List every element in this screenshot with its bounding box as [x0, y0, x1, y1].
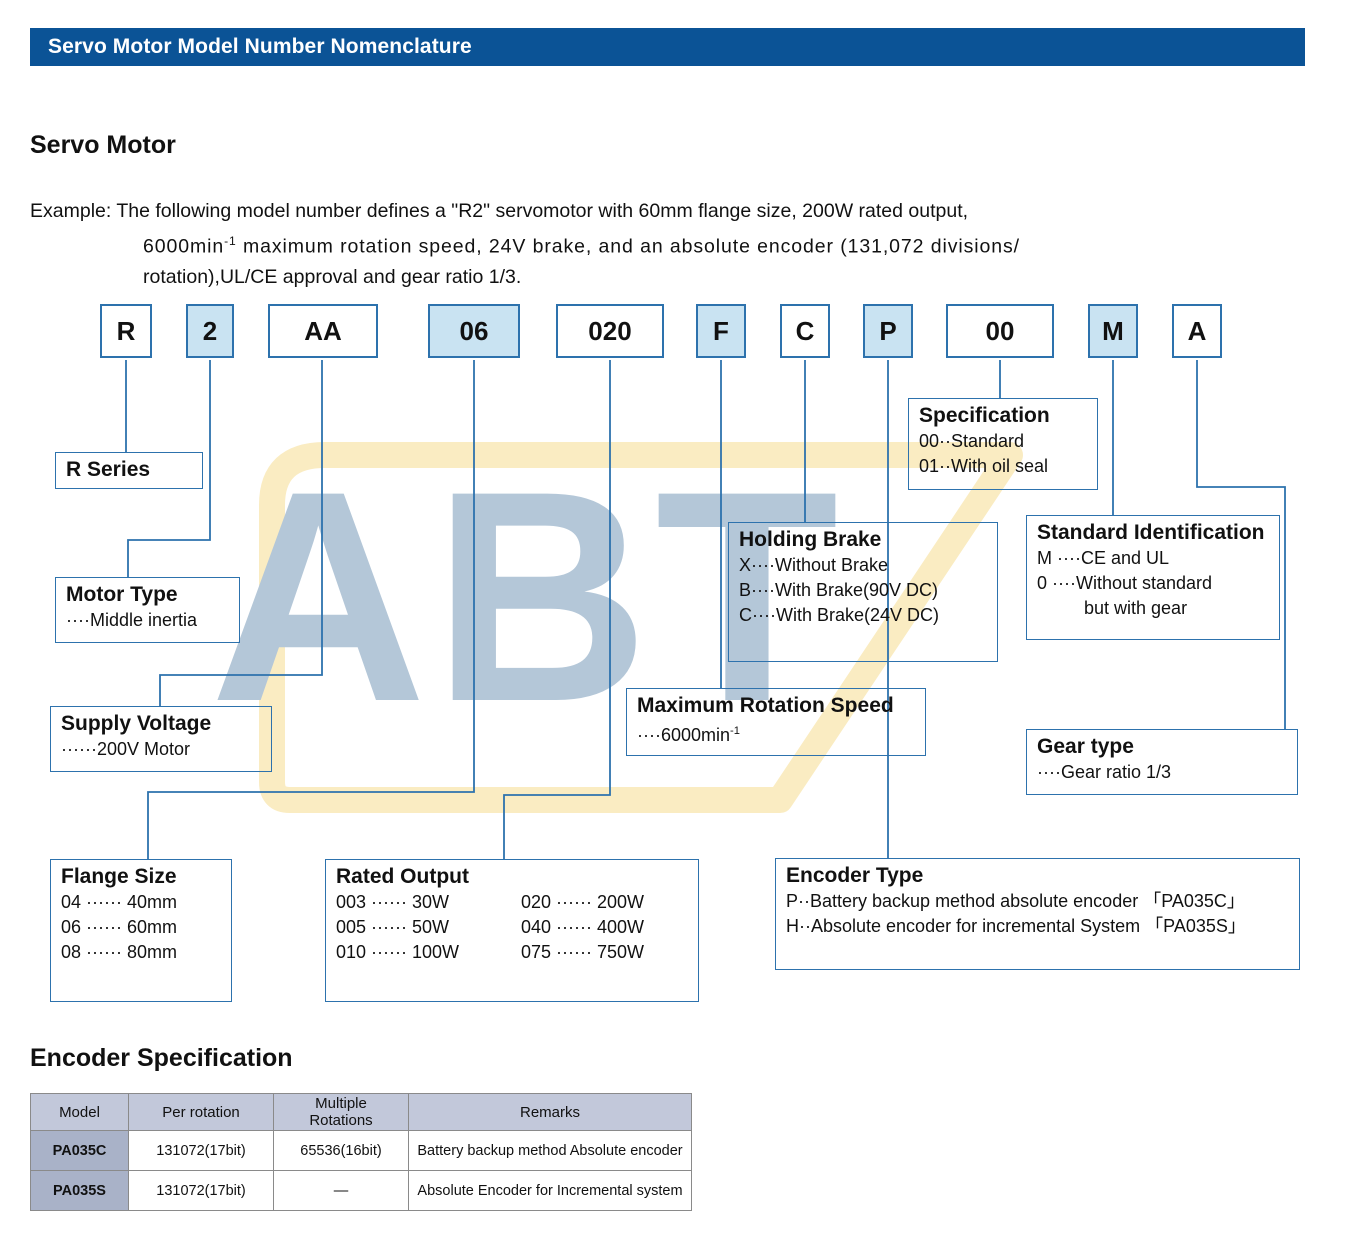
callout-motor-type-line-1: ····Middle inertia	[66, 608, 230, 633]
table-cell-model-pa035c: PA035C	[31, 1131, 129, 1171]
callout-r-series-title: R Series	[66, 457, 193, 482]
table-col-multiple-rotations: Multiple Rotations	[274, 1094, 409, 1131]
callout-max-rotation-speed-value: ····6000min-1	[637, 719, 916, 748]
code-box-max-rotation[interactable]: F	[696, 304, 746, 358]
table-cell-per-rotation-pa035c: 131072(17bit)	[129, 1131, 274, 1171]
callout-max-rotation-speed-title: Maximum Rotation Speed	[637, 693, 916, 719]
callout-encoder-type-title: Encoder Type	[786, 863, 1290, 889]
callout-specification-row-1: 00··Standard	[919, 429, 1088, 454]
callout-specification-row-2: 01··With oil seal	[919, 454, 1088, 479]
connector-rated-output	[504, 360, 610, 859]
code-box-rated-output[interactable]: 020	[556, 304, 664, 358]
callout-rated-output-left-row-2: 005 ······ 50W	[336, 915, 521, 940]
callout-standard-identification: Standard Identification M ····CE and UL …	[1026, 515, 1280, 640]
callout-gear-type-title: Gear type	[1037, 734, 1288, 760]
table-cell-remarks-pa035s: Absolute Encoder for Incremental system	[409, 1171, 692, 1211]
example-line-3: rotation),UL/CE approval and gear ratio …	[30, 262, 1330, 292]
table-header-row: Model Per rotation Multiple Rotations Re…	[31, 1094, 692, 1131]
callout-standard-identification-row-3: but with gear	[1037, 596, 1270, 621]
callout-rated-output-columns: 003 ······ 30W 005 ······ 50W 010 ······…	[336, 890, 689, 965]
encoder-specification-heading: Encoder Specification	[30, 1044, 293, 1073]
callout-rated-output: Rated Output 003 ······ 30W 005 ······ 5…	[325, 859, 699, 1002]
callout-specification-title: Specification	[919, 403, 1088, 429]
table-cell-multiple-rotations-pa035c: 65536(16bit)	[274, 1131, 409, 1171]
callout-rated-output-right-row-2: 040 ······ 400W	[521, 915, 644, 940]
encoder-specification-table: Model Per rotation Multiple Rotations Re…	[30, 1093, 692, 1211]
callout-holding-brake-title: Holding Brake	[739, 527, 988, 553]
servo-motor-heading: Servo Motor	[30, 131, 176, 160]
callout-flange-size-row-2: 06 ······ 60mm	[61, 915, 222, 940]
code-box-flange-size[interactable]: 06	[428, 304, 520, 358]
callout-flange-size-row-1: 04 ······ 40mm	[61, 890, 222, 915]
table-col-model: Model	[31, 1094, 129, 1131]
callout-motor-type: Motor Type ····Middle inertia	[55, 577, 240, 643]
code-box-specification[interactable]: 00	[946, 304, 1054, 358]
callout-rated-output-col-right: 020 ······ 200W 040 ······ 400W 075 ····…	[521, 890, 644, 965]
callout-rated-output-title: Rated Output	[336, 864, 689, 890]
callout-encoder-type: Encoder Type P··Battery backup method ab…	[775, 858, 1300, 970]
callout-gear-type-line-1: ····Gear ratio 1/3	[1037, 760, 1288, 785]
page-header-bar: Servo Motor Model Number Nomenclature	[30, 28, 1305, 66]
callout-supply-voltage-title: Supply Voltage	[61, 711, 262, 737]
table-cell-per-rotation-pa035s: 131072(17bit)	[129, 1171, 274, 1211]
callout-rated-output-left-row-1: 003 ······ 30W	[336, 890, 521, 915]
example-line-2-rest: maximum rotation speed, 24V brake, and a…	[237, 236, 1020, 258]
callout-standard-identification-title: Standard Identification	[1037, 520, 1270, 546]
example-description: Example: The following model number defi…	[30, 196, 1330, 292]
example-line-1: Example: The following model number defi…	[30, 196, 1330, 226]
callout-motor-type-title: Motor Type	[66, 582, 230, 608]
callout-holding-brake-row-2: B····With Brake(90V DC)	[739, 578, 988, 603]
callout-flange-size-title: Flange Size	[61, 864, 222, 890]
callout-supply-voltage: Supply Voltage ······200V Motor	[50, 706, 272, 772]
callout-flange-size-row-3: 08 ······ 80mm	[61, 940, 222, 965]
callout-rated-output-col-left: 003 ······ 30W 005 ······ 50W 010 ······…	[336, 890, 521, 965]
callout-holding-brake-row-1: X····Without Brake	[739, 553, 988, 578]
page-title: Servo Motor Model Number Nomenclature	[48, 35, 472, 59]
callout-encoder-type-row-1: P··Battery backup method absolute encode…	[786, 889, 1290, 914]
callout-r-series: R Series	[55, 452, 203, 489]
code-box-holding-brake[interactable]: C	[780, 304, 830, 358]
example-line-2: 6000min-1 maximum rotation speed, 24V br…	[30, 226, 1330, 262]
code-box-encoder-type[interactable]: P	[863, 304, 913, 358]
table-row: PA035C 131072(17bit) 65536(16bit) Batter…	[31, 1131, 692, 1171]
callout-max-rotation-speed-number: ····6000min	[637, 725, 730, 745]
code-box-standard-id[interactable]: M	[1088, 304, 1138, 358]
code-box-gear-type[interactable]: A	[1172, 304, 1222, 358]
callout-rated-output-right-row-1: 020 ······ 200W	[521, 890, 644, 915]
code-box-motor-type[interactable]: 2	[186, 304, 234, 358]
callout-max-rotation-speed-superscript: -1	[730, 725, 740, 737]
table-row: PA035S 131072(17bit) — Absolute Encoder …	[31, 1171, 692, 1211]
table-cell-remarks-pa035c: Battery backup method Absolute encoder	[409, 1131, 692, 1171]
code-box-r-series[interactable]: R	[100, 304, 152, 358]
table-cell-model-pa035s: PA035S	[31, 1171, 129, 1211]
callout-holding-brake: Holding Brake X····Without Brake B····Wi…	[728, 522, 998, 662]
callout-standard-identification-row-2: 0 ····Without standard	[1037, 571, 1270, 596]
callout-specification: Specification 00··Standard 01··With oil …	[908, 398, 1098, 490]
connector-supply-voltage	[160, 360, 322, 706]
callout-flange-size: Flange Size 04 ······ 40mm 06 ······ 60m…	[50, 859, 232, 1002]
example-line-2-superscript: -1	[224, 234, 237, 248]
callout-max-rotation-speed: Maximum Rotation Speed ····6000min-1	[626, 688, 926, 756]
callout-encoder-type-row-2: H··Absolute encoder for incremental Syst…	[786, 914, 1290, 939]
callout-holding-brake-row-3: C····With Brake(24V DC)	[739, 603, 988, 628]
callout-standard-identification-row-1: M ····CE and UL	[1037, 546, 1270, 571]
callout-gear-type: Gear type ····Gear ratio 1/3	[1026, 729, 1298, 795]
callout-rated-output-left-row-3: 010 ······ 100W	[336, 940, 521, 965]
table-cell-multiple-rotations-pa035s: —	[274, 1171, 409, 1211]
example-line-2-speed: 6000min	[143, 236, 224, 258]
callout-supply-voltage-line-1: ······200V Motor	[61, 737, 262, 762]
callout-rated-output-right-row-3: 075 ······ 750W	[521, 940, 644, 965]
table-col-per-rotation: Per rotation	[129, 1094, 274, 1131]
code-box-supply-voltage[interactable]: AA	[268, 304, 378, 358]
table-col-remarks: Remarks	[409, 1094, 692, 1131]
